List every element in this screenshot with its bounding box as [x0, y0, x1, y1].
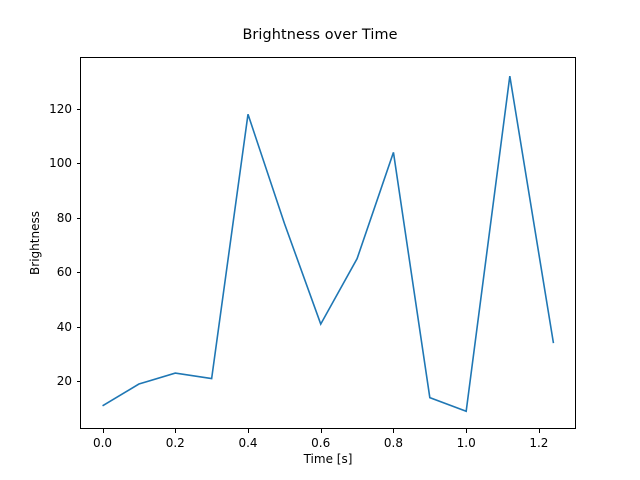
plot-area: [0, 0, 640, 480]
x-axis-label: Time [s]: [80, 452, 576, 466]
brightness-line-series: [103, 76, 554, 411]
y-axis-label: Brightness: [28, 57, 42, 429]
matplotlib-figure: Brightness over Time 20406080100120 0.00…: [0, 0, 640, 480]
